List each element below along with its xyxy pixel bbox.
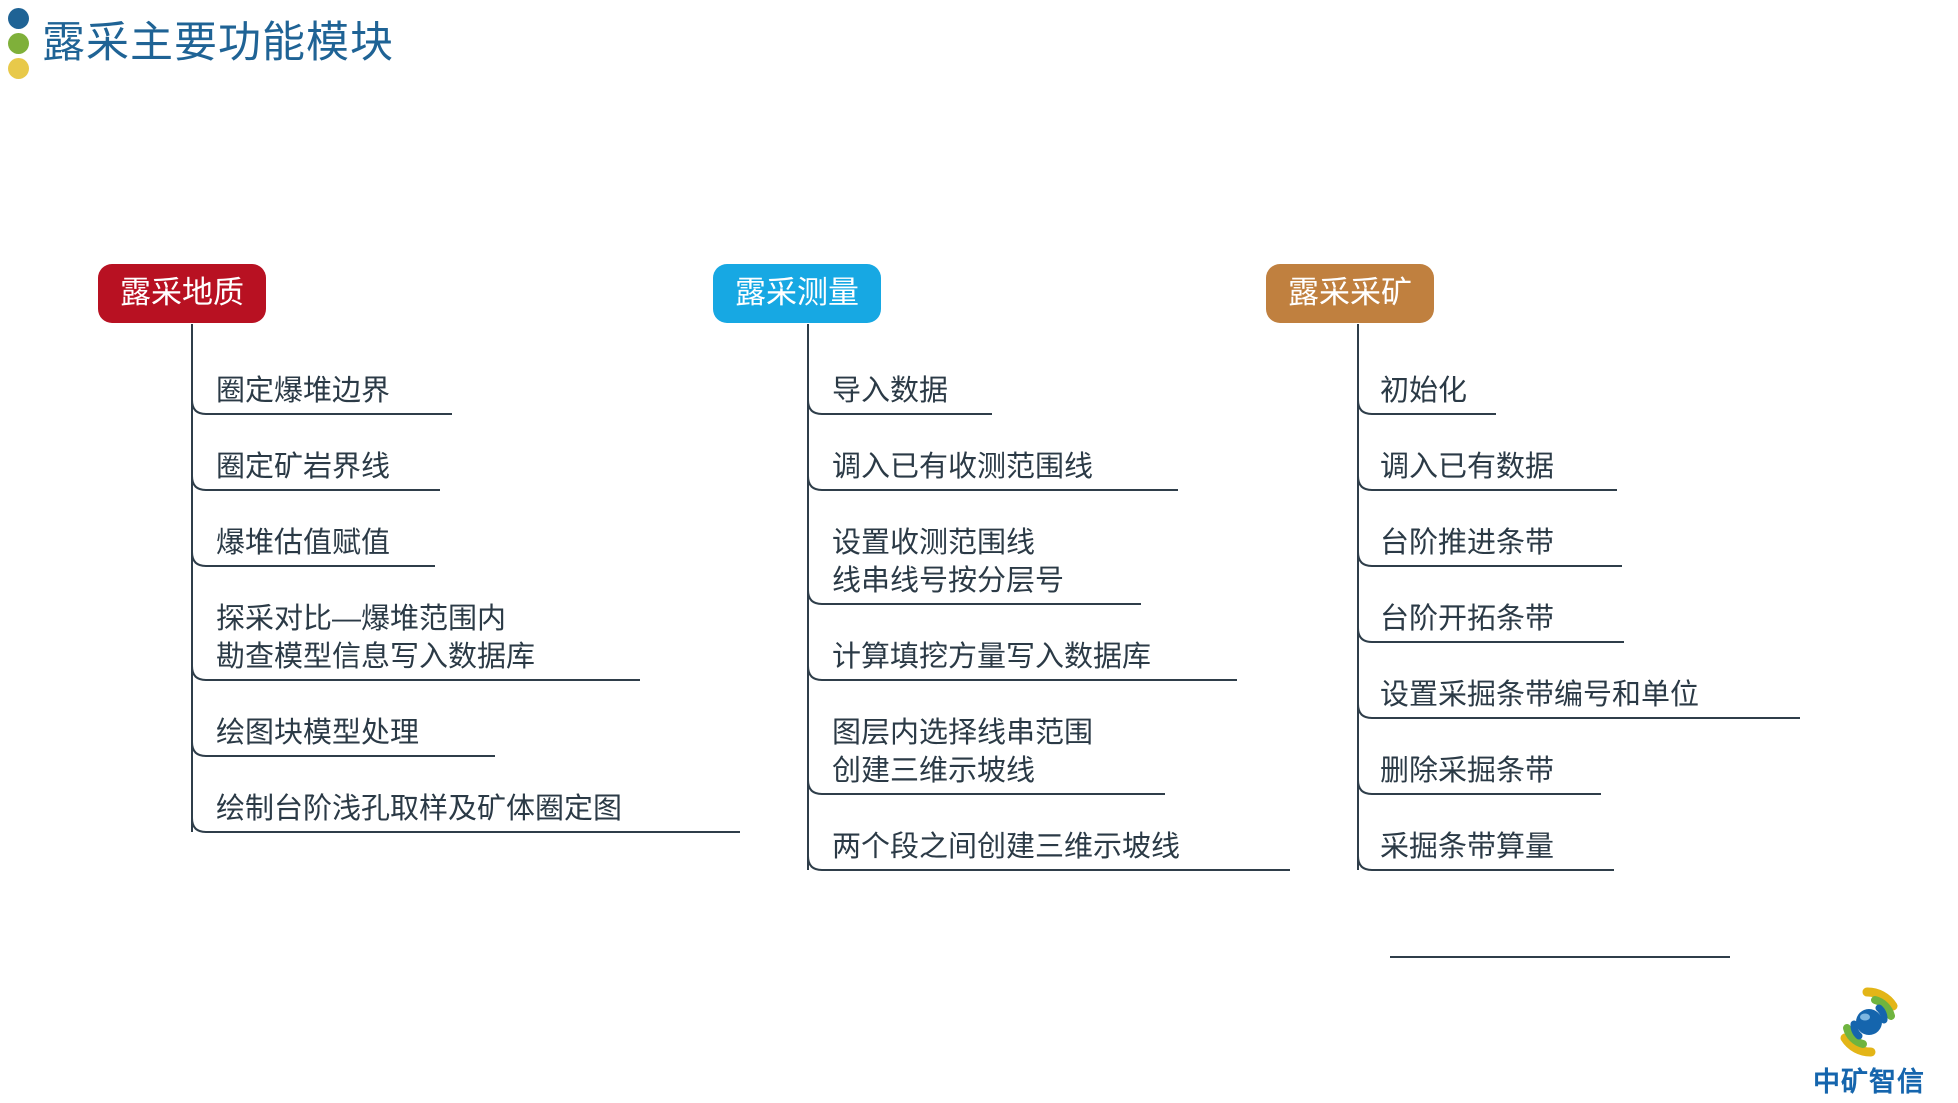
dot-blue-icon xyxy=(8,8,29,29)
leaf-item[interactable]: 图层内选择线串范围 创建三维示坡线 xyxy=(832,714,1093,790)
trailing-underline xyxy=(1390,956,1730,958)
leaf-item[interactable]: 设置收测范围线 线串线号按分层号 xyxy=(832,524,1064,600)
leaf-item[interactable]: 采掘条带算量 xyxy=(1380,828,1554,866)
logo-mark-icon xyxy=(1786,986,1952,1064)
leaf-item[interactable]: 圈定矿岩界线 xyxy=(216,448,390,486)
leaf-item[interactable]: 删除采掘条带 xyxy=(1380,752,1554,790)
leaf-item[interactable]: 调入已有数据 xyxy=(1380,448,1554,486)
leaf-item[interactable]: 爆堆估值赋值 xyxy=(216,524,390,562)
dot-yellow-icon xyxy=(8,58,29,79)
leaf-item[interactable]: 绘图块模型处理 xyxy=(216,714,419,752)
leaf-item[interactable]: 绘制台阶浅孔取样及矿体圈定图 xyxy=(216,790,622,828)
leaf-item[interactable]: 计算填挖方量写入数据库 xyxy=(832,638,1151,676)
leaf-item[interactable]: 圈定爆堆边界 xyxy=(216,372,390,410)
company-logo: 中矿智信 xyxy=(1786,986,1952,1098)
leaf-item[interactable]: 探采对比—爆堆范围内 勘查模型信息写入数据库 xyxy=(216,600,535,676)
leaf-item[interactable]: 导入数据 xyxy=(832,372,948,410)
dot-green-icon xyxy=(8,33,29,54)
leaf-item[interactable]: 调入已有收测范围线 xyxy=(832,448,1093,486)
node-header-geology[interactable]: 露采地质 xyxy=(98,264,266,323)
title-dot-group xyxy=(8,8,34,80)
node-header-survey[interactable]: 露采测量 xyxy=(713,264,881,323)
leaf-item[interactable]: 初始化 xyxy=(1380,372,1467,410)
page-header: 露采主要功能模块 xyxy=(0,0,1958,90)
leaf-item[interactable]: 设置采掘条带编号和单位 xyxy=(1380,676,1699,714)
node-header-mining[interactable]: 露采采矿 xyxy=(1266,264,1434,323)
leaf-item[interactable]: 台阶推进条带 xyxy=(1380,524,1554,562)
leaf-item[interactable]: 两个段之间创建三维示坡线 xyxy=(832,828,1180,866)
leaf-item[interactable]: 台阶开拓条带 xyxy=(1380,600,1554,638)
logo-wordmark: 中矿智信 xyxy=(1786,1060,1952,1099)
page-title: 露采主要功能模块 xyxy=(42,8,394,70)
